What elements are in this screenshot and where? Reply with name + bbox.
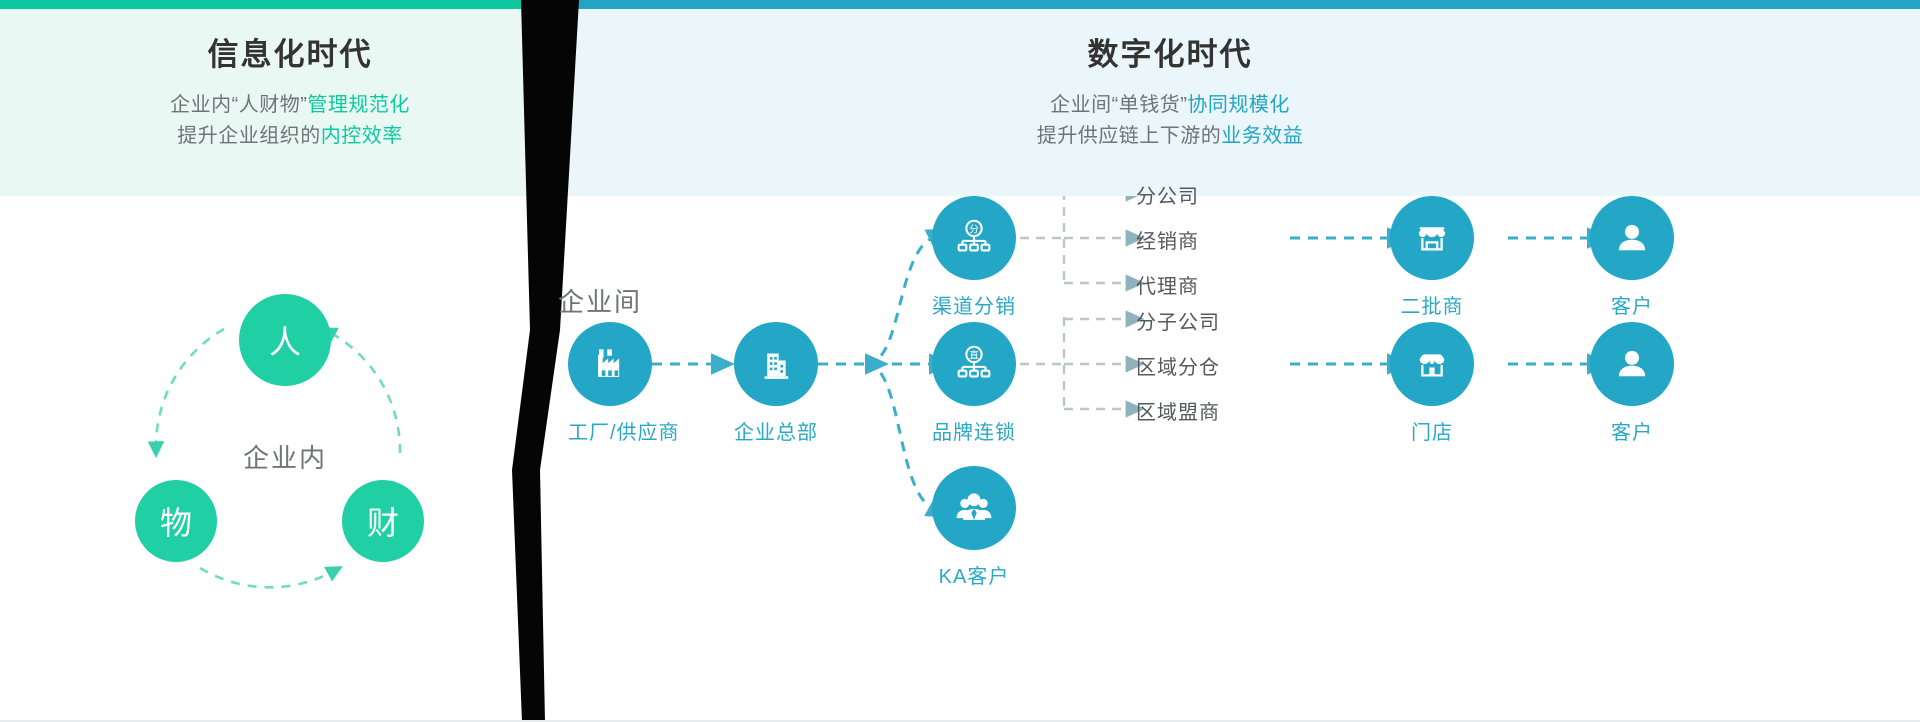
flow-group-label: 企业间 (558, 282, 642, 319)
flow-node-customer-top[interactable]: 客户 (1590, 196, 1674, 319)
flow-node-channel-label: 渠道分销 (932, 290, 1016, 319)
flow-node-chain[interactable]: 直 品牌连锁 (932, 322, 1016, 445)
leaf-label-regional-warehouse: 区域分仓 (1136, 351, 1220, 380)
flow-node-wholesaler-label: 二批商 (1390, 290, 1474, 319)
leaf-label-regional-alliance: 区域盟商 (1136, 396, 1220, 425)
right-panel-title: 数字化时代 (890, 36, 1450, 73)
left-panel-title: 信息化时代 (0, 36, 580, 73)
cycle-node-finance-label: 财 (367, 498, 399, 544)
left-subtitle-line1-accent: 管理规范化 (307, 94, 410, 116)
flow-connectors (530, 196, 1920, 722)
diagram-canvas: 信息化时代 企业内“人财物”管理规范化 提升企业组织的内控效率 数字化时代 企业… (0, 0, 1920, 722)
left-subtitle-line2-accent: 内控效率 (321, 125, 403, 147)
flow-node-ka-customer[interactable]: KA客户 (932, 466, 1016, 589)
left-subtitle-line1-plain: 企业内“人财物” (170, 94, 307, 116)
left-panel-subtitle: 企业内“人财物”管理规范化 提升企业组织的内控效率 (0, 90, 580, 152)
shop-icon (1390, 322, 1474, 406)
enterprise-internal-cycle: 人 物 财 企业内 (120, 290, 450, 620)
cycle-node-goods[interactable]: 物 (135, 480, 217, 562)
right-panel-heading-block: 数字化时代 企业间“单钱货”协同规模化 提升供应链上下游的业务效益 (890, 36, 1450, 152)
flow-node-store[interactable]: 门店 (1390, 322, 1474, 445)
leaf-label-subsidiary: 分子公司 (1136, 306, 1220, 335)
leaf-label-agent: 代理商 (1136, 270, 1199, 299)
chain-badge-text: 直 (969, 350, 979, 362)
flow-node-factory[interactable]: 工厂/供应商 (568, 322, 652, 445)
distribution-network-icon: 分 (932, 196, 1016, 280)
factory-icon (568, 322, 652, 406)
left-panel-heading-block: 信息化时代 企业内“人财物”管理规范化 提升企业组织的内控效率 (0, 36, 580, 152)
enterprise-external-flow: 企业间 工厂/供应商 (530, 196, 1920, 722)
person-icon (1590, 322, 1674, 406)
flow-node-customer-top-label: 客户 (1590, 290, 1674, 319)
left-subtitle-line2-plain: 提升企业组织的 (177, 125, 321, 147)
chain-network-icon: 直 (932, 322, 1016, 406)
cycle-node-people-label: 人 (269, 317, 301, 363)
right-subtitle-line2-plain: 提升供应链上下游的 (1037, 125, 1222, 147)
cycle-node-people[interactable]: 人 (239, 294, 331, 386)
left-panel-top-bar (0, 0, 600, 9)
flow-node-headquarters[interactable]: 企业总部 (734, 322, 818, 445)
office-building-icon (734, 322, 818, 406)
flow-node-customer-mid-label: 客户 (1590, 416, 1674, 445)
cycle-center-label: 企业内 (120, 438, 450, 475)
flow-node-chain-label: 品牌连锁 (932, 416, 1016, 445)
person-icon (1590, 196, 1674, 280)
flow-node-channel[interactable]: 分 渠道分销 (932, 196, 1016, 319)
flow-node-factory-label: 工厂/供应商 (568, 416, 652, 445)
flow-node-store-label: 门店 (1390, 416, 1474, 445)
flow-node-customer-mid[interactable]: 客户 (1590, 322, 1674, 445)
channel-badge-text: 分 (969, 225, 979, 236)
right-subtitle-line2-accent: 业务效益 (1221, 125, 1303, 147)
flow-node-wholesaler[interactable]: 二批商 (1390, 196, 1474, 319)
storefront-icon (1390, 196, 1474, 280)
group-people-icon (932, 466, 1016, 550)
right-panel-top-bar (530, 0, 1920, 9)
right-subtitle-line1-plain: 企业间“单钱货” (1050, 94, 1187, 116)
leaf-label-dealer: 经销商 (1136, 225, 1199, 254)
flow-node-ka-customer-label: KA客户 (932, 560, 1016, 589)
flow-node-headquarters-label: 企业总部 (734, 416, 818, 445)
cycle-node-goods-label: 物 (160, 498, 192, 544)
leaf-label-branch-company: 分公司 (1136, 180, 1199, 209)
right-subtitle-line1-accent: 协同规模化 (1187, 94, 1290, 116)
right-panel-subtitle: 企业间“单钱货”协同规模化 提升供应链上下游的业务效益 (890, 90, 1450, 152)
cycle-node-finance[interactable]: 财 (342, 480, 424, 562)
